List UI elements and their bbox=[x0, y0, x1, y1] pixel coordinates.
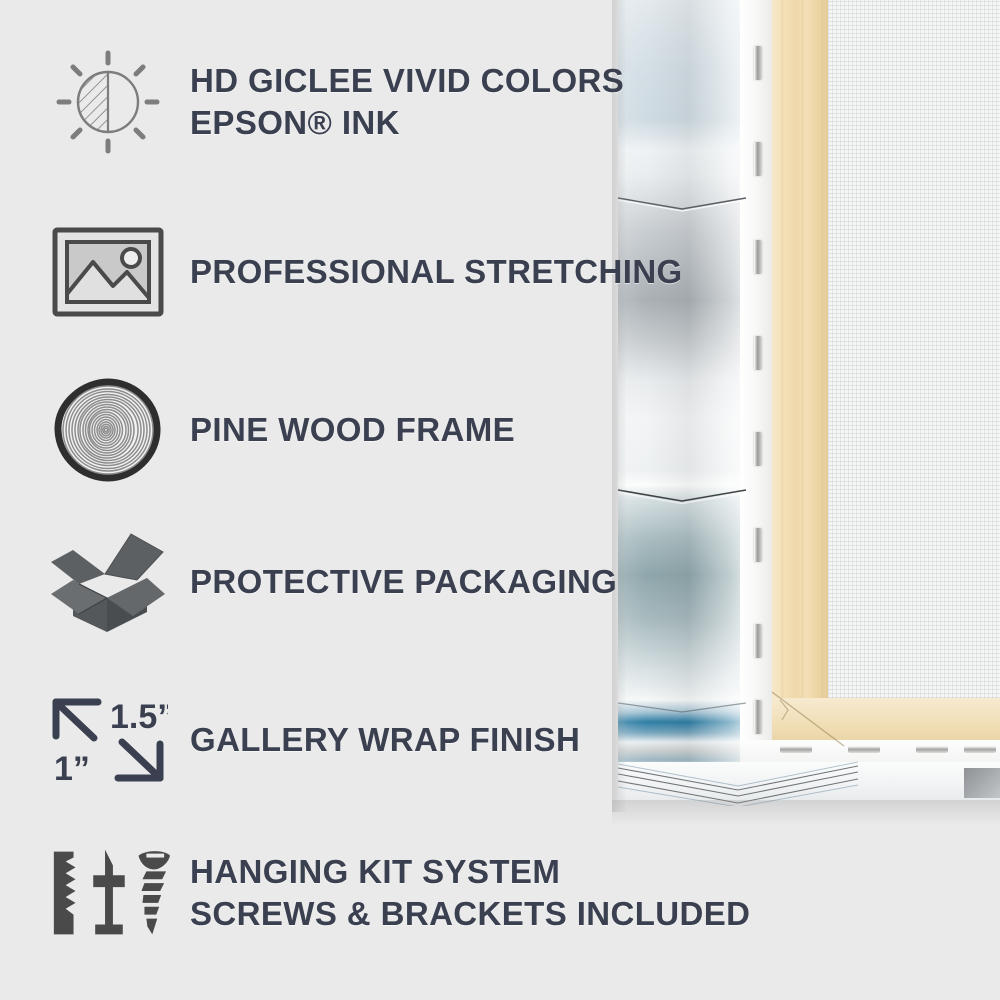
staple bbox=[754, 700, 762, 734]
feature-label: PROFESSIONAL STRETCHING bbox=[190, 251, 683, 293]
printed-canvas-wrap-edge bbox=[618, 0, 746, 790]
feature-label-line: GALLERY WRAP FINISH bbox=[190, 719, 580, 761]
feature-label-line: HD GICLEE VIVID COLORS bbox=[190, 60, 624, 102]
photo-drop-shadow bbox=[612, 800, 1000, 826]
feature-item-pine-wood-frame: PINE WOOD FRAME bbox=[44, 378, 515, 482]
product-photo bbox=[612, 0, 1000, 812]
staple bbox=[754, 46, 762, 80]
feature-item-professional-stretching: PROFESSIONAL STRETCHING bbox=[44, 222, 683, 322]
sun-icon bbox=[44, 48, 172, 156]
feature-label: HANGING KIT SYSTEM SCREWS & BRACKETS INC… bbox=[190, 851, 750, 935]
frame-corner-notch bbox=[964, 768, 1000, 798]
open-box-icon bbox=[44, 528, 172, 636]
staple bbox=[754, 624, 762, 658]
product-feature-infographic: HD GICLEE VIVID COLORS EPSON® INK PROFES… bbox=[0, 0, 1000, 1000]
hanging-hardware-icon bbox=[44, 845, 172, 941]
gallery-wrap-side-face bbox=[740, 0, 772, 800]
staple bbox=[754, 240, 762, 274]
staple bbox=[754, 528, 762, 562]
feature-item-gallery-wrap-finish: 1.5” 1” GALLERY WRAP FINISH bbox=[44, 688, 580, 792]
feature-label: PINE WOOD FRAME bbox=[190, 409, 515, 451]
depth-measurement-label: 1.5” bbox=[110, 698, 168, 736]
feature-label-line: SCREWS & BRACKETS INCLUDED bbox=[190, 893, 750, 935]
feature-item-protective-packaging: PROTECTIVE PACKAGING bbox=[44, 528, 617, 636]
tree-rings-icon bbox=[44, 378, 172, 482]
feature-label-line: PROTECTIVE PACKAGING bbox=[190, 561, 617, 603]
framed-picture-icon bbox=[44, 222, 172, 322]
staple bbox=[754, 142, 762, 176]
feature-label: PROTECTIVE PACKAGING bbox=[190, 561, 617, 603]
feature-label-line: PINE WOOD FRAME bbox=[190, 409, 515, 451]
width-measurement-label: 1” bbox=[54, 750, 90, 788]
staple bbox=[916, 746, 948, 753]
feature-item-hd-giclee: HD GICLEE VIVID COLORS EPSON® INK bbox=[44, 48, 624, 156]
feature-label: GALLERY WRAP FINISH bbox=[190, 719, 580, 761]
feature-item-hanging-kit: HANGING KIT SYSTEM SCREWS & BRACKETS INC… bbox=[44, 845, 750, 941]
pine-stretcher-bar-vertical bbox=[772, 0, 828, 740]
staple bbox=[754, 336, 762, 370]
feature-label-line: PROFESSIONAL STRETCHING bbox=[190, 251, 683, 293]
staple bbox=[754, 432, 762, 466]
feature-label: HD GICLEE VIVID COLORS EPSON® INK bbox=[190, 60, 624, 144]
staple bbox=[780, 746, 812, 753]
staple bbox=[964, 746, 996, 753]
staple bbox=[848, 746, 880, 753]
depth-arrows-icon: 1.5” 1” bbox=[44, 688, 172, 792]
canvas-back-texture bbox=[828, 0, 1000, 722]
feature-label-line: HANGING KIT SYSTEM bbox=[190, 851, 750, 893]
feature-list: HD GICLEE VIVID COLORS EPSON® INK PROFES… bbox=[0, 0, 620, 1000]
feature-label-line: EPSON® INK bbox=[190, 102, 624, 144]
